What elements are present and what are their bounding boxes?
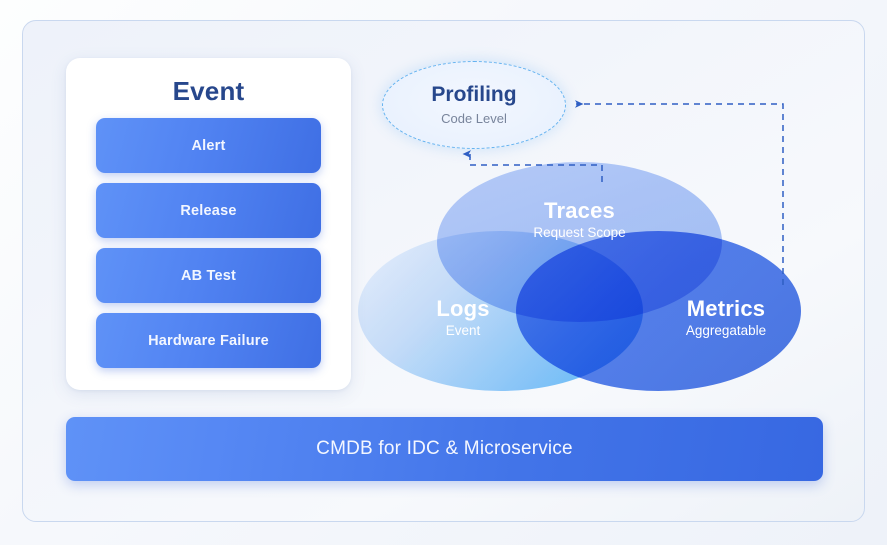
- event-button-alert[interactable]: Alert: [96, 118, 321, 173]
- connector-traces-to-profiling: [470, 154, 602, 182]
- connector-metrics-to-profiling: [576, 104, 783, 285]
- event-button-release[interactable]: Release: [96, 183, 321, 238]
- event-card: Event Alert Release AB Test Hardware Fai…: [66, 58, 351, 390]
- event-card-title: Event: [66, 76, 351, 107]
- cmdb-bar[interactable]: CMDB for IDC & Microservice: [66, 417, 823, 481]
- event-button-ab-test[interactable]: AB Test: [96, 248, 321, 303]
- event-button-hardware-failure[interactable]: Hardware Failure: [96, 313, 321, 368]
- diagram-canvas: Traces Request Scope Logs Event Metrics …: [0, 0, 887, 545]
